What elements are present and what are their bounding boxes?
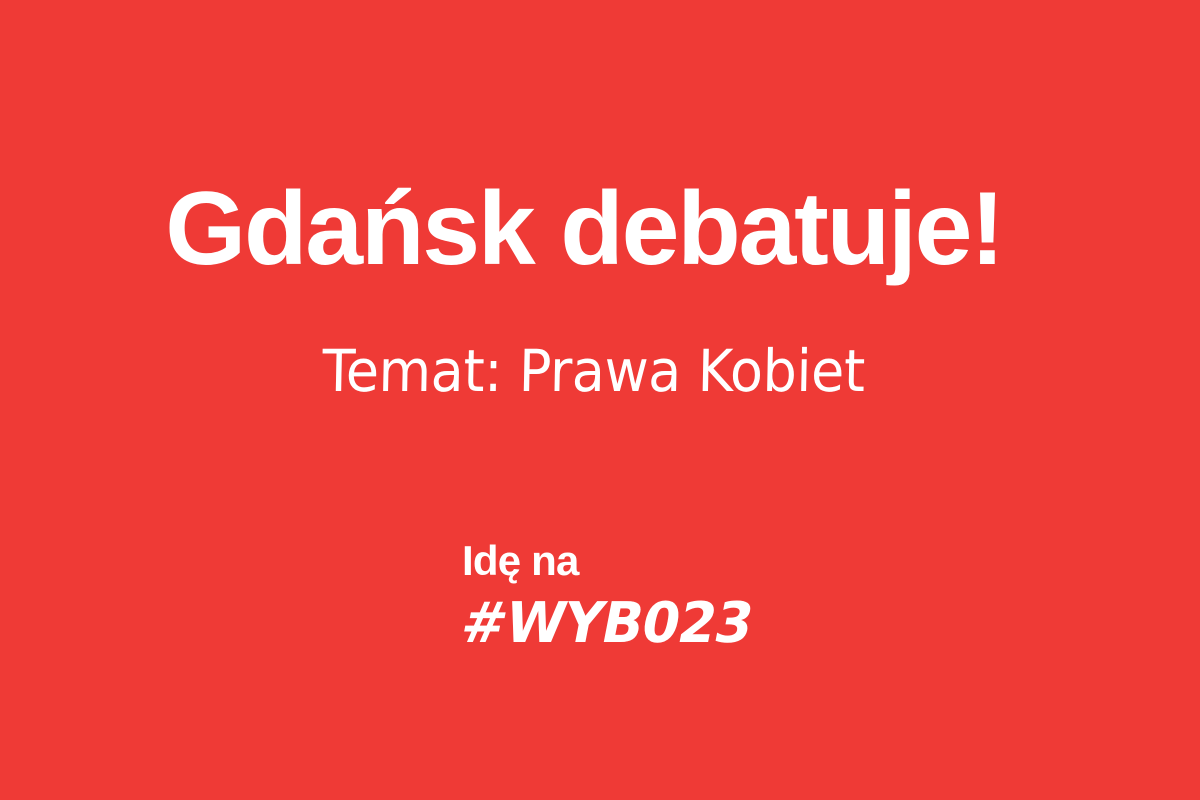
poster-canvas: Gdańsk debatuje! Temat: Prawa Kobiet Idę… — [0, 0, 1200, 800]
page-title: Gdańsk debatuje! — [165, 176, 1002, 282]
signoff-lead-text: Idę na — [462, 540, 764, 582]
topic-subtitle: Temat: Prawa Kobiet — [322, 340, 866, 403]
campaign-hashtag: #WYB023 — [457, 596, 758, 652]
subtitle-container: Temat: Prawa Kobiet — [0, 340, 1200, 403]
signoff-block: Idę na #WYB023 — [462, 540, 764, 652]
headline-container: Gdańsk debatuje! — [0, 176, 1200, 282]
